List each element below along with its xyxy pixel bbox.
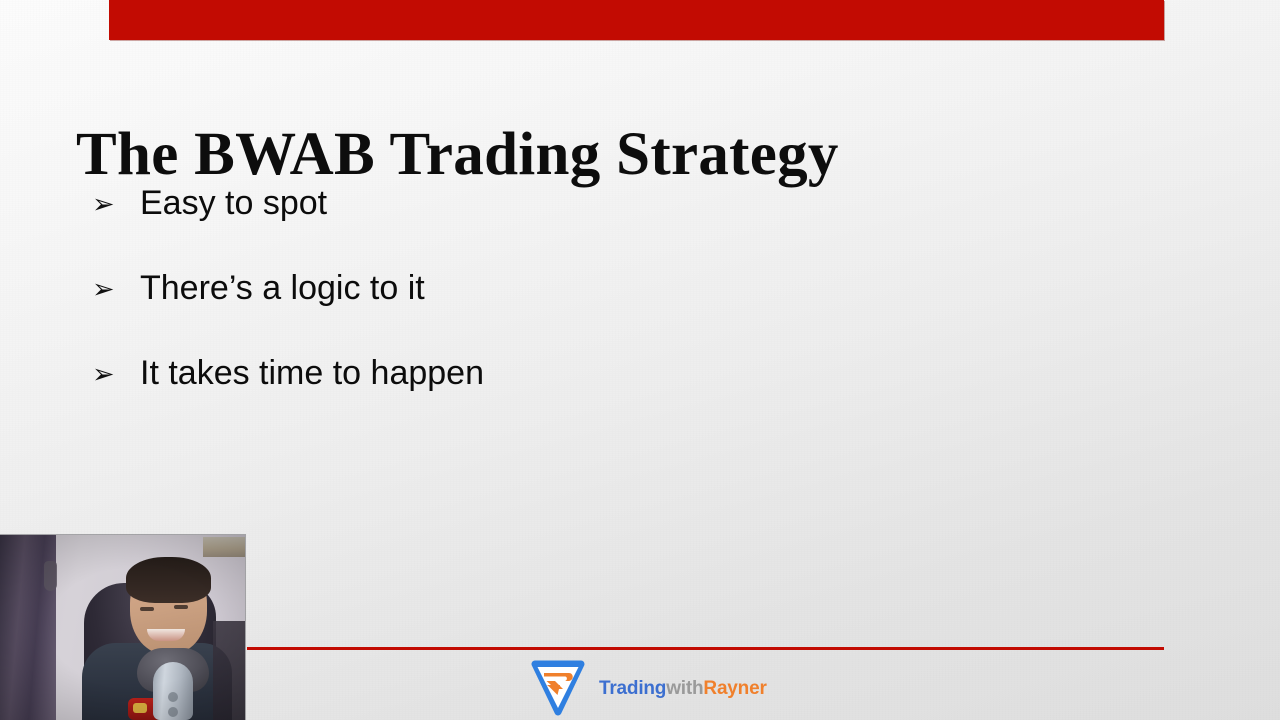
wordmark-rayner: Rayner [703,678,766,699]
wordmark-with: with [666,678,703,699]
list-item-label: There’s a logic to it [140,267,425,309]
webcam-vignette [0,535,245,720]
presenter-webcam-feed[interactable] [0,535,245,720]
presentation-slide: The BWAB Trading Strategy ➢ Easy to spot… [0,0,1280,720]
list-item-label: Easy to spot [140,182,327,224]
wordmark-trading: Trading [599,678,666,699]
top-accent-bar [109,0,1164,40]
bullet-list: ➢ Easy to spot ➢ There’s a logic to it ➢… [92,182,992,437]
brand-logo: TradingwithRayner [527,660,767,716]
list-item: ➢ Easy to spot [92,182,992,267]
page-title: The BWAB Trading Strategy [76,123,839,187]
brand-wordmark: TradingwithRayner [599,679,767,698]
footer-divider [247,647,1164,650]
arrow-bullet-icon: ➢ [92,352,140,396]
arrow-bullet-icon: ➢ [92,182,140,226]
arrow-bullet-icon: ➢ [92,267,140,311]
list-item-label: It takes time to happen [140,352,484,394]
list-item: ➢ There’s a logic to it [92,267,992,352]
shield-r-logo-icon [527,660,589,716]
list-item: ➢ It takes time to happen [92,352,992,437]
